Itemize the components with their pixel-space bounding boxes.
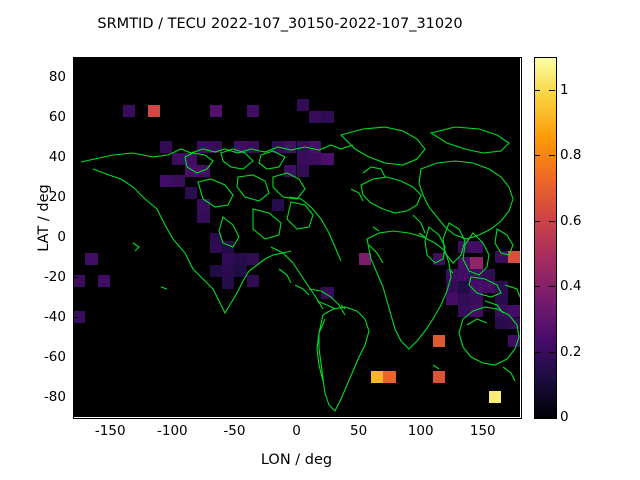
y-tick-mark <box>73 357 78 358</box>
x-tick-label: -100 <box>142 423 202 439</box>
y-tick-mark <box>73 237 78 238</box>
x-tick-mark <box>359 412 360 417</box>
chart-title: SRMTID / TECU 2022-107_30150-2022-107_31… <box>0 16 560 32</box>
colorbar-tick-mark <box>549 417 555 418</box>
x-tick-mark <box>297 412 298 417</box>
y-tick-mark <box>515 237 520 238</box>
x-axis-ticks: -150-100-50050100150 <box>0 423 640 443</box>
y-tick-label: 60 <box>26 109 66 125</box>
colorbar-tick-label: 0.4 <box>560 278 581 294</box>
x-tick-mark <box>172 412 173 417</box>
colorbar <box>534 57 557 419</box>
y-tick-label: -60 <box>26 349 66 365</box>
y-tick-mark <box>73 317 78 318</box>
x-tick-mark <box>421 412 422 417</box>
x-axis-label: LON / deg <box>73 452 520 468</box>
x-tick-mark <box>483 412 484 417</box>
x-tick-label: 0 <box>267 423 327 439</box>
colorbar-tick-mark <box>549 155 555 156</box>
y-tick-mark <box>515 157 520 158</box>
colorbar-gradient <box>535 58 556 418</box>
y-tick-mark <box>73 77 78 78</box>
y-tick-mark <box>73 277 78 278</box>
colorbar-tick-label: 0.8 <box>560 147 581 163</box>
colorbar-tick-mark <box>534 286 540 287</box>
figure-root: SRMTID / TECU 2022-107_30150-2022-107_31… <box>0 0 640 480</box>
y-tick-mark <box>515 117 520 118</box>
x-tick-label: 50 <box>329 423 389 439</box>
y-tick-mark <box>515 197 520 198</box>
y-tick-label: -40 <box>26 309 66 325</box>
colorbar-tick-mark <box>534 352 540 353</box>
colorbar-tick-mark <box>549 352 555 353</box>
colorbar-tick-mark <box>534 155 540 156</box>
colorbar-tick-mark <box>534 417 540 418</box>
y-tick-mark <box>73 117 78 118</box>
colorbar-tick-mark <box>534 90 540 91</box>
map-plot-area[interactable] <box>73 57 520 417</box>
y-tick-mark <box>515 277 520 278</box>
colorbar-tick-mark <box>549 221 555 222</box>
y-tick-mark <box>515 317 520 318</box>
x-tick-mark <box>110 412 111 417</box>
y-tick-label: -80 <box>26 389 66 405</box>
y-tick-mark <box>515 397 520 398</box>
y-axis-label: LAT / deg <box>36 158 52 278</box>
y-tick-mark <box>73 397 78 398</box>
x-tick-mark <box>234 412 235 417</box>
colorbar-tick-mark <box>549 90 555 91</box>
x-tick-label: 100 <box>391 423 451 439</box>
colorbar-tick-label: 0.6 <box>560 213 581 229</box>
colorbar-tick-mark <box>549 286 555 287</box>
colorbar-tick-label: 0.2 <box>560 344 581 360</box>
y-tick-label: 80 <box>26 69 66 85</box>
x-tick-label: 150 <box>453 423 513 439</box>
y-tick-mark <box>73 157 78 158</box>
y-tick-mark <box>515 357 520 358</box>
y-tick-mark <box>73 197 78 198</box>
colorbar-tick-label: 0 <box>560 409 569 425</box>
coastline-overlay <box>73 57 520 417</box>
colorbar-tick-mark <box>534 221 540 222</box>
x-tick-label: -150 <box>80 423 140 439</box>
y-tick-mark <box>515 77 520 78</box>
colorbar-tick-label: 1 <box>560 82 569 98</box>
x-tick-label: -50 <box>204 423 264 439</box>
